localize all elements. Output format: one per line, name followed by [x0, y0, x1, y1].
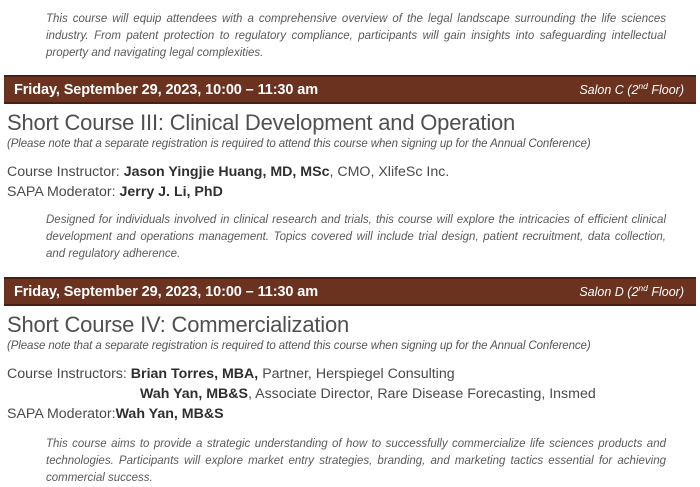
session-room-1: Salon C (2nd Floor)	[579, 83, 688, 97]
moderator-label-2: SAPA Moderator:	[7, 404, 116, 424]
session-room-2: Salon D (2nd Floor)	[579, 285, 688, 299]
course-description-2: This course aims to provide a strategic …	[0, 436, 700, 487]
session-header-bar-2: Friday, September 29, 2023, 10:00 – 11:3…	[4, 277, 696, 306]
instructor-row-2a: Course Instructors: Brian Torres, MBA, P…	[7, 364, 700, 384]
instructor-affiliation-2a: Partner, Herspiegel Consulting	[258, 366, 454, 382]
intro-description-paragraph: This course will equip attendees with a …	[0, 11, 700, 62]
course-title-1: Short Course III: Clinical Development a…	[7, 111, 700, 136]
moderator-name-2: Wah Yan, MB&S	[116, 406, 224, 422]
session-header-bar-1: Friday, September 29, 2023, 10:00 – 11:3…	[4, 75, 696, 104]
course-description-1: Designed for individuals involved in cli…	[0, 212, 700, 263]
course-title-2: Short Course IV: Commercialization	[7, 313, 700, 338]
instructor-name-1: Jason Yingjie Huang, MD, MSc	[124, 164, 330, 180]
session-room-1-suffix: Floor)	[648, 83, 684, 97]
top-spacer	[0, 0, 700, 11]
course-people-1: Course Instructor: Jason Yingjie Huang, …	[7, 162, 700, 202]
session-datetime-1: Friday, September 29, 2023, 10:00 – 11:3…	[14, 82, 318, 98]
section-2-desc-spacer	[0, 424, 700, 436]
session-room-2-prefix: Salon D (2	[579, 285, 638, 299]
moderator-row-2: SAPA Moderator: Wah Yan, MB&S	[7, 404, 700, 424]
session-room-1-prefix: Salon C (2	[579, 83, 638, 97]
instructor-row-1: Course Instructor: Jason Yingjie Huang, …	[7, 162, 700, 182]
moderator-label-1: SAPA Moderator:	[7, 184, 120, 200]
agenda-page: This course will equip attendees with a …	[0, 0, 700, 461]
session-room-2-ordinal: nd	[638, 282, 647, 292]
instructor-label-1: Course Instructor:	[7, 164, 124, 180]
session-room-1-ordinal: nd	[638, 80, 647, 90]
course-registration-note-1: (Please note that a separate registratio…	[7, 138, 700, 150]
instructor-name-2b: Wah Yan, MB&S	[140, 386, 248, 402]
instructor-name-2a: Brian Torres, MBA,	[131, 366, 258, 382]
instructor-affiliation-2b: , Associate Director, Rare Disease Forec…	[248, 386, 596, 402]
session-datetime-2: Friday, September 29, 2023, 10:00 – 11:3…	[14, 284, 318, 300]
instructor-label-2: Course Instructors:	[7, 366, 131, 382]
moderator-row-1: SAPA Moderator: Jerry J. Li, PhD	[7, 182, 700, 202]
course-people-2: Course Instructors: Brian Torres, MBA, P…	[7, 364, 700, 424]
instructor-affiliation-1: , CMO, XlifeSc Inc.	[329, 164, 449, 180]
moderator-name-1: Jerry J. Li, PhD	[120, 184, 223, 200]
instructor-row-2b: Wah Yan, MB&S, Associate Director, Rare …	[7, 384, 700, 404]
session-room-2-suffix: Floor)	[648, 285, 684, 299]
section-2-spacer	[0, 263, 700, 277]
section-1-desc-spacer	[0, 202, 700, 212]
section-1-spacer	[0, 62, 700, 75]
course-registration-note-2: (Please note that a separate registratio…	[7, 340, 700, 352]
